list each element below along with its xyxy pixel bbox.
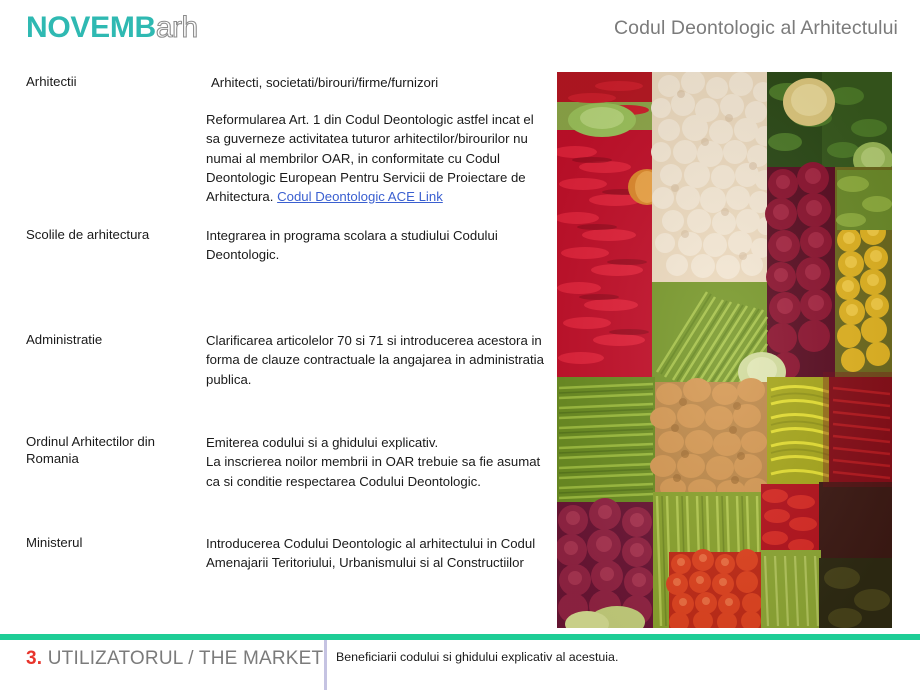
- row-label-administratie: Administratie: [26, 331, 196, 348]
- row-body-oar: Emiterea codului si a ghidului explicati…: [206, 433, 548, 491]
- page-header: NOVEMBarh Codul Deontologic al Arhitectu…: [0, 0, 920, 62]
- row-label-oar: Ordinul Arhitectilor din Romania: [26, 433, 196, 467]
- row-body-scolile: Integrarea in programa scolara a studiul…: [206, 226, 548, 265]
- row-label-scolile: Scolile de arhitectura: [26, 226, 196, 243]
- content-table: Arhitectii Arhitecti, societati/birouri/…: [0, 70, 557, 630]
- logo-text-primary: NOVEMB: [26, 11, 156, 44]
- row-label-arhitectii: Arhitectii: [26, 73, 196, 90]
- brand-logo[interactable]: NOVEMBarh: [26, 11, 198, 45]
- footer-section-title: 3. UTILIZATORUL / THE MARKET: [26, 648, 323, 670]
- footer-section-label: UTILIZATORUL / THE MARKET: [48, 648, 324, 669]
- row-body-ministerul: Introducerea Codului Deontologic al arhi…: [206, 534, 548, 573]
- market-vegetables-photo: [557, 72, 892, 628]
- intro-text: Arhitecti, societati/birouri/firme/furni…: [211, 73, 553, 92]
- logo-text-secondary: arh: [156, 11, 198, 44]
- codul-deontologic-ace-link[interactable]: Codul Deontologic ACE Link: [277, 189, 443, 204]
- page-title: Codul Deontologic al Arhitectului: [614, 17, 898, 40]
- row-body-administratie: Clarificarea articolelor 70 si 71 si int…: [206, 331, 548, 389]
- row-body-arhitectii: Reformularea Art. 1 din Codul Deontologi…: [206, 110, 548, 206]
- footer-note-text: Beneficiarii codului si ghidului explica…: [336, 649, 618, 665]
- row-label-ministerul: Ministerul: [26, 534, 196, 551]
- footer-note-box: Beneficiarii codului si ghidului explica…: [324, 640, 920, 690]
- footer-section-number: 3.: [26, 648, 42, 669]
